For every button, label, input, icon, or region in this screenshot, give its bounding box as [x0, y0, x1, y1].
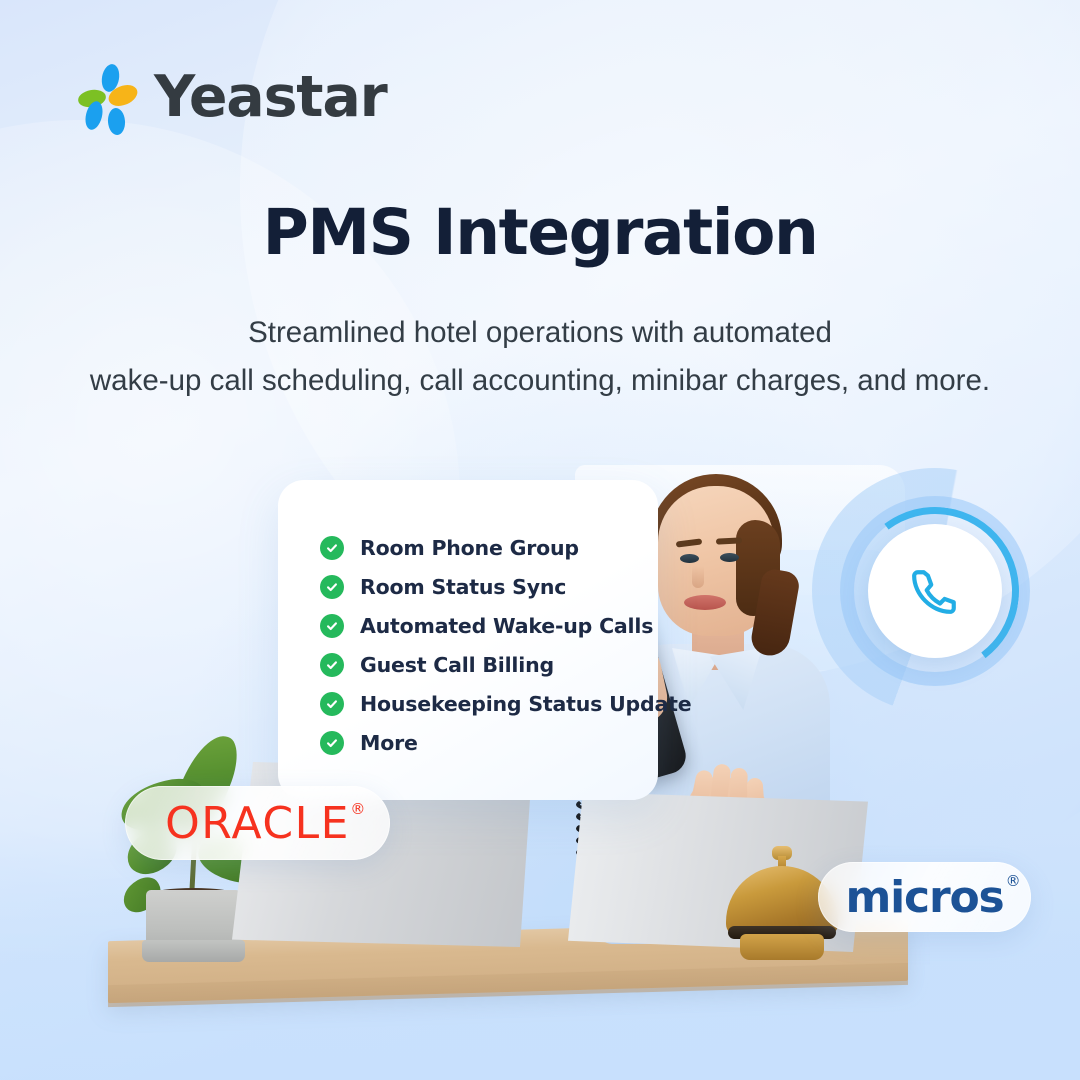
micros-logo-text: micros® — [846, 872, 1004, 923]
registered-mark: ® — [350, 800, 367, 818]
subtitle-line-2: wake-up call scheduling, call accounting… — [0, 357, 1080, 405]
person-eye-left — [680, 554, 699, 563]
plant-pot-base — [142, 940, 245, 962]
check-circle-icon — [320, 731, 344, 755]
check-circle-icon — [320, 692, 344, 716]
yeastar-pinwheel-logo-icon — [78, 64, 140, 130]
list-item[interactable]: Housekeeping Status Update — [320, 692, 658, 716]
phone-handset-icon — [910, 566, 960, 616]
registered-mark: ® — [1006, 872, 1020, 890]
list-item[interactable]: Guest Call Billing — [320, 653, 658, 677]
list-item[interactable]: Room Status Sync — [320, 575, 658, 599]
person-lips — [684, 595, 726, 610]
call-badge[interactable] — [868, 524, 1002, 658]
list-item-label: Room Status Sync — [360, 575, 566, 599]
list-item-label: Housekeeping Status Update — [360, 692, 691, 716]
subtitle-line-1: Streamlined hotel operations with automa… — [0, 309, 1080, 357]
page-subtitle: Streamlined hotel operations with automa… — [0, 309, 1080, 405]
list-item-label: Room Phone Group — [360, 536, 579, 560]
check-circle-icon — [320, 653, 344, 677]
check-circle-icon — [320, 575, 344, 599]
list-item[interactable]: Room Phone Group — [320, 536, 658, 560]
bell-base — [740, 934, 824, 960]
oracle-name: ORACLE — [165, 798, 350, 849]
list-item-label: Automated Wake-up Calls — [360, 614, 653, 638]
brand-logo: Yeastar — [78, 64, 387, 130]
partner-badge-micros[interactable]: micros® — [818, 862, 1031, 932]
list-item[interactable]: Automated Wake-up Calls — [320, 614, 658, 638]
oracle-logo-text: ORACLE® — [165, 798, 350, 849]
page-title: PMS Integration — [0, 196, 1080, 269]
micros-name: micros — [846, 872, 1004, 923]
brand-wordmark: Yeastar — [154, 64, 387, 130]
partner-badge-oracle[interactable]: ORACLE® — [125, 786, 390, 860]
poster-canvas: Yeastar PMS Integration Streamlined hote… — [0, 0, 1080, 1080]
list-item-label: Guest Call Billing — [360, 653, 554, 677]
hero-scene: Room Phone Group Room Status Sync Automa… — [0, 440, 1080, 1080]
list-item-label: More — [360, 731, 418, 755]
feature-list-card: Room Phone Group Room Status Sync Automa… — [278, 480, 658, 800]
check-circle-icon — [320, 614, 344, 638]
check-circle-icon — [320, 536, 344, 560]
person-eye-right — [720, 553, 739, 562]
person-nose — [692, 566, 704, 588]
list-item[interactable]: More — [320, 731, 658, 755]
